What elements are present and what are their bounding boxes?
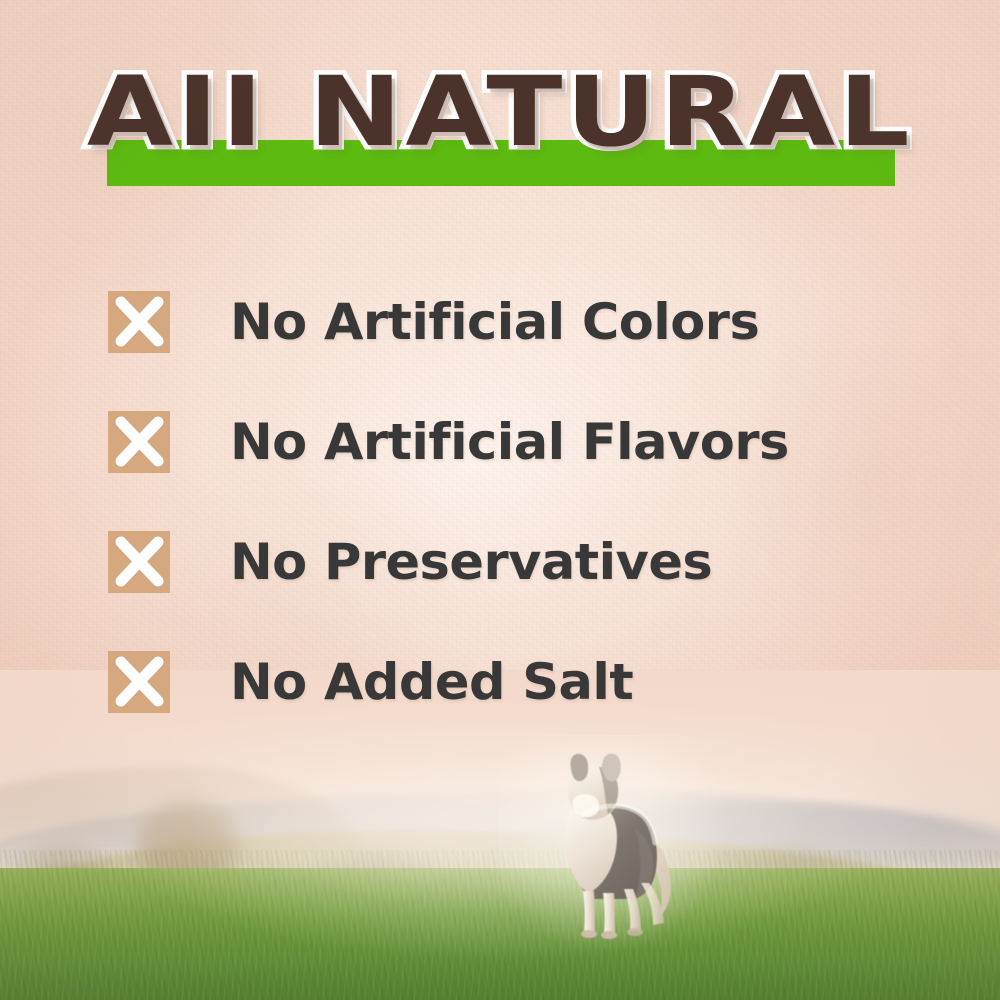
page-title: AII NATURAL (0, 64, 1000, 160)
list-item-label: No Artificial Colors (230, 297, 759, 347)
border-collie-dog (523, 753, 703, 938)
grass-blade-texture (0, 850, 1000, 1000)
list-item: No Preservatives (108, 502, 928, 622)
list-item-label: No Artificial Flavors (230, 417, 789, 467)
list-item: No Artificial Colors (108, 262, 928, 382)
list-item: No Added Salt (108, 622, 928, 742)
x-mark-icon (108, 411, 170, 473)
list-item: No Artificial Flavors (108, 382, 928, 502)
x-mark-icon (108, 291, 170, 353)
x-mark-icon (108, 651, 170, 713)
list-item-label: No Preservatives (230, 537, 712, 587)
x-mark-icon (108, 531, 170, 593)
list-item-label: No Added Salt (230, 657, 633, 707)
headline-block: AII NATURAL (0, 62, 1000, 202)
all-natural-product-callout: AII NATURAL No Artificial Colors No Arti… (0, 0, 1000, 1000)
benefits-list: No Artificial Colors No Artificial Flavo… (108, 262, 928, 742)
